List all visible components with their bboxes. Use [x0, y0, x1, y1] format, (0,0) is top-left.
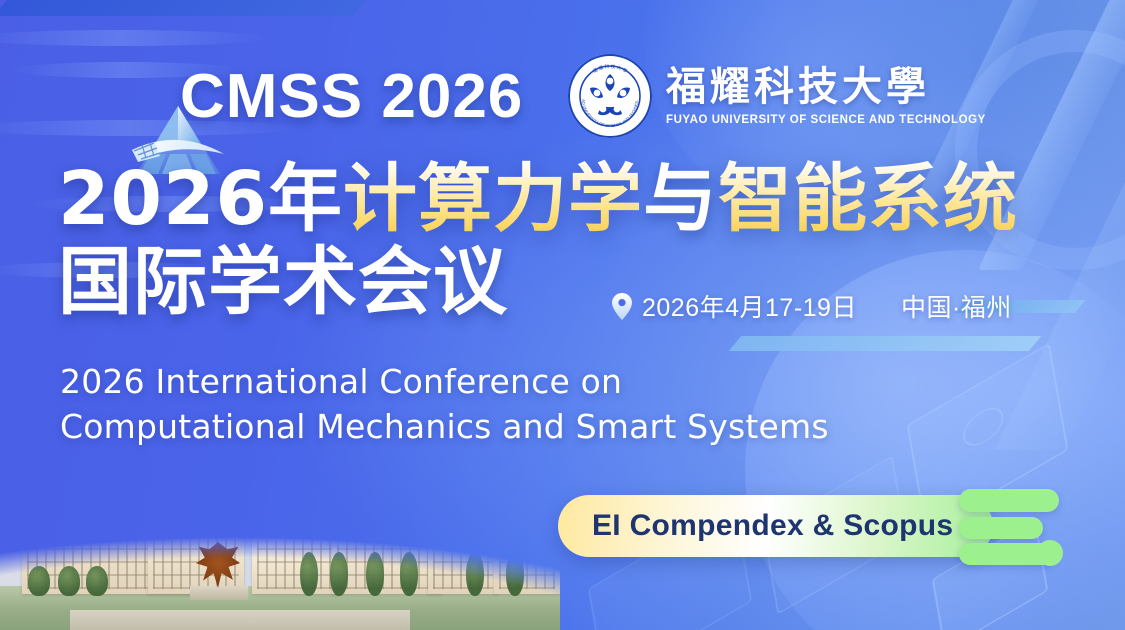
- headline-english-line1: 2026 International Conference on: [60, 360, 829, 405]
- indexing-badge-pill: EI Compendex & Scopus: [558, 495, 993, 557]
- indexing-badge: EI Compendex & Scopus: [558, 483, 1069, 569]
- photo-window-grid: [153, 504, 239, 589]
- decor-chip-inner: [960, 400, 1005, 453]
- photo-tree: [330, 552, 348, 596]
- photo-tree: [86, 566, 108, 596]
- decor-accent-bar-3: [0, 0, 367, 16]
- photo-building-main-wing: [148, 498, 244, 594]
- fuyao-university-emblem-icon: 福 耀 科 技 大 學 FUYAO UNIVERSITY OF SCIENCE …: [566, 52, 654, 140]
- headline-topic-b: 智能系统: [718, 156, 1018, 242]
- decor-accent-bar-1: [729, 336, 1042, 351]
- photo-tree: [58, 566, 80, 596]
- headline-topic-a: 计算力学: [343, 156, 643, 242]
- fuyao-campus-photo: [0, 435, 560, 630]
- photo-building-right-4: [494, 490, 560, 594]
- green-bar-1: [959, 489, 1059, 512]
- decor-wisp-1: [0, 30, 270, 46]
- photo-tree: [466, 552, 484, 596]
- photo-window-grid: [337, 526, 437, 589]
- photo-tree: [300, 552, 318, 596]
- headline-year: 2026年: [58, 156, 343, 242]
- green-dot: [1037, 540, 1063, 566]
- photo-window-grid: [257, 540, 333, 589]
- headline-english: 2026 International Conference on Computa…: [60, 360, 829, 450]
- cmss-brand: CMSS 2026: [62, 46, 523, 146]
- location-pin-icon: [612, 293, 632, 320]
- university-name-en: FUYAO UNIVERSITY OF SCIENCE AND TECHNOLO…: [666, 114, 986, 126]
- photo-tree: [400, 552, 418, 596]
- headline-chinese-line1: 2026年计算力学与智能系统: [58, 158, 1018, 241]
- event-meta: 2026年4月17-19日 中国·福州: [612, 288, 1012, 324]
- green-bar-2: [959, 517, 1043, 539]
- photo-building-right-1: [252, 534, 338, 594]
- photo-tree: [506, 552, 524, 596]
- conference-banner: CMSS 2026: [0, 0, 1125, 630]
- photo-roof: [6, 469, 259, 480]
- photo-plaza: [70, 610, 410, 630]
- event-location: 中国·福州: [901, 288, 1012, 324]
- indexing-badge-label: EI Compendex & Scopus: [592, 509, 953, 543]
- event-date: 2026年4月17-19日: [642, 288, 857, 324]
- green-bars-dot-icon: [959, 483, 1069, 569]
- photo-tree: [28, 566, 50, 596]
- photo-building-right-3: [428, 498, 498, 594]
- university-logo: 福 耀 科 技 大 學 FUYAO UNIVERSITY OF SCIENCE …: [566, 52, 986, 140]
- headline-english-line2: Computational Mechanics and Smart System…: [60, 405, 829, 450]
- photo-tree: [366, 552, 384, 596]
- photo-building-right-2: [332, 520, 442, 594]
- headline-conjunction: 与: [643, 156, 718, 242]
- photo-sculpture-pedestal: [190, 586, 248, 600]
- university-name-cn: 福耀科技大學: [666, 66, 986, 108]
- photo-window-grid: [433, 504, 493, 589]
- university-name-block: 福耀科技大學 FUYAO UNIVERSITY OF SCIENCE AND T…: [666, 66, 986, 126]
